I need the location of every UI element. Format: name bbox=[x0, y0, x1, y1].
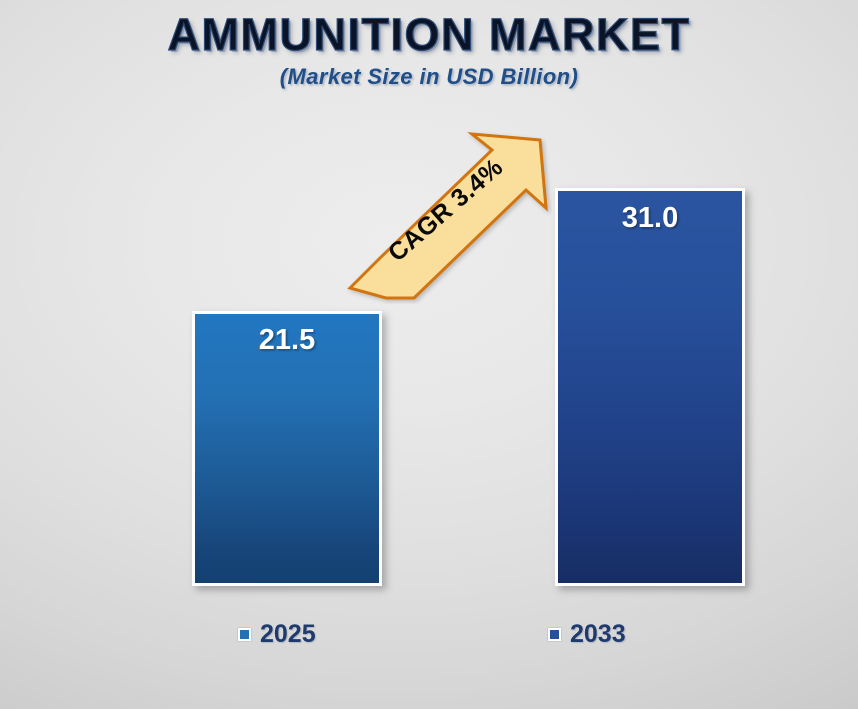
bar-2025[interactable]: 21.5 bbox=[192, 311, 382, 586]
legend-swatch-2033 bbox=[548, 628, 561, 641]
page-title: AMMUNITION MARKET bbox=[0, 12, 858, 57]
legend-label-2025: 2025 bbox=[260, 622, 316, 647]
title-block: AMMUNITION MARKET (Market Size in USD Bi… bbox=[0, 12, 858, 90]
cagr-label: CAGR 3.4% bbox=[372, 144, 519, 277]
bar-value-2033: 31.0 bbox=[558, 202, 742, 235]
legend-item-2033[interactable]: 2033 bbox=[548, 622, 626, 647]
chart-canvas: AMMUNITION MARKET (Market Size in USD Bi… bbox=[0, 0, 858, 709]
bar-value-2025: 21.5 bbox=[195, 324, 379, 357]
legend-item-2025[interactable]: 2025 bbox=[238, 622, 316, 647]
legend-label-2033: 2033 bbox=[570, 622, 626, 647]
chart-subtitle: (Market Size in USD Billion) bbox=[0, 64, 858, 90]
legend-swatch-2025 bbox=[238, 628, 251, 641]
bar-2033[interactable]: 31.0 bbox=[555, 188, 745, 586]
